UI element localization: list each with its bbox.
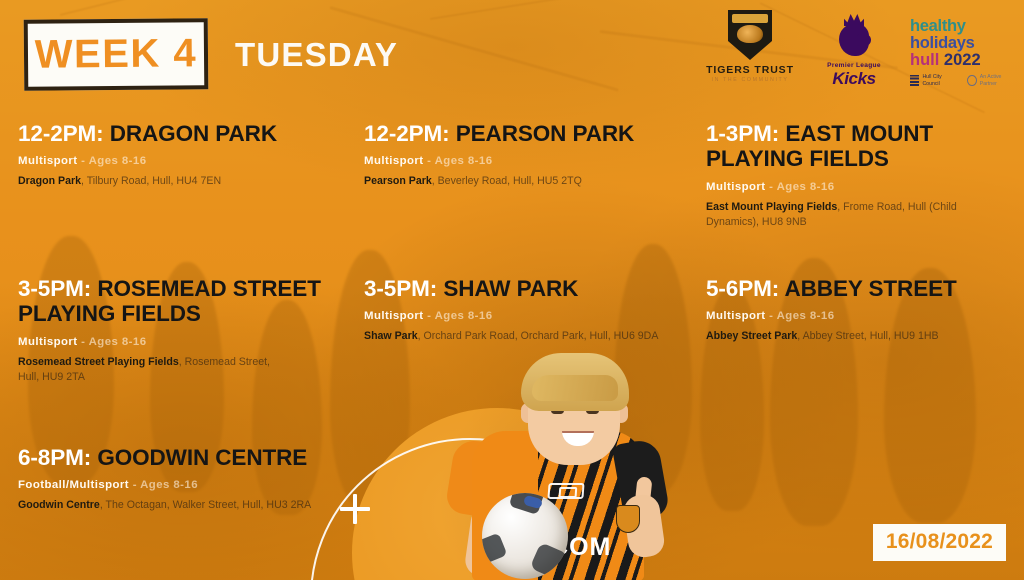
session-meta: Multisport - Ages 8-16 [18, 155, 348, 167]
session-address: Dragon Park, Tilbury Road, Hull, HU4 7EN [18, 174, 318, 189]
hull-city-crest-icon [728, 10, 772, 60]
session-meta: Multisport - Ages 8-16 [706, 310, 1006, 322]
session-title: 12-2PM: DRAGON PARK [18, 121, 348, 146]
session-address-name: Goodwin Centre [18, 499, 100, 511]
session-venue: ABBEY STREET [785, 276, 957, 301]
session-activity: Multisport [18, 155, 78, 167]
poster-canvas: GIACOM WEEK 4 TUESDAY TIGERS TRUST IN TH… [0, 0, 1024, 580]
hull-city-council-logo: Hull City Council [910, 74, 955, 87]
tigers-trust-title: TIGERS TRUST [702, 64, 798, 76]
active-partner-logo: An Active Partner [967, 74, 1014, 87]
session-card: 5-6PM: ABBEY STREET Multisport - Ages 8-… [706, 276, 1006, 344]
session-card: 3-5PM: ROSEMEAD STREET PLAYING FIELDS Mu… [18, 276, 338, 385]
hh-year-text: 2022 [944, 51, 981, 69]
session-time: 12-2PM: [364, 121, 450, 146]
tiger-head-icon [737, 25, 763, 43]
session-address: Abbey Street Park, Abbey Street, Hull, H… [706, 329, 1006, 344]
session-address: Pearson Park, Beverley Road, Hull, HU5 2… [364, 174, 664, 189]
session-card: 12-2PM: PEARSON PARK Multisport - Ages 8… [364, 121, 694, 189]
date-badge: 16/08/2022 [873, 524, 1006, 561]
session-ages: - Ages 8-16 [427, 155, 492, 167]
session-time: 3-5PM: [364, 276, 437, 301]
session-address-rest: , Tilbury Road, Hull, HU4 7EN [81, 175, 221, 187]
session-title: 5-6PM: ABBEY STREET [706, 276, 1006, 301]
tigers-trust-logo: TIGERS TRUST IN THE COMMUNITY [702, 8, 798, 83]
hh-partner-logos: Hull City Council An Active Partner [910, 74, 1014, 87]
session-address: Shaw Park, Orchard Park Road, Orchard Pa… [364, 329, 664, 344]
session-title: 12-2PM: PEARSON PARK [364, 121, 694, 146]
kicks-text: Kicks [816, 69, 892, 89]
session-title: 3-5PM: SHAW PARK [364, 276, 694, 301]
session-activity: Multisport [364, 155, 424, 167]
session-venue: SHAW PARK [443, 276, 578, 301]
session-address-name: Rosemead Street Playing Fields [18, 356, 179, 368]
week-label: WEEK 4 [35, 31, 198, 77]
session-ages: - Ages 8-16 [81, 155, 146, 167]
session-venue: PEARSON PARK [456, 121, 634, 146]
session-activity: Multisport [364, 310, 424, 322]
day-label: TUESDAY [235, 36, 398, 74]
session-meta: Football/Multisport - Ages 8-16 [18, 479, 348, 491]
hh-hull-text: hull [910, 51, 939, 69]
session-ages: - Ages 8-16 [133, 479, 198, 491]
session-time: 5-6PM: [706, 276, 779, 301]
session-card: 1-3PM: EAST MOUNT PLAYING FIELDS Multisp… [706, 121, 1006, 230]
week-badge: WEEK 4 [24, 18, 209, 91]
session-ages: - Ages 8-16 [769, 181, 834, 193]
hh-line-3: hull 2022 [910, 52, 1014, 69]
session-ages: - Ages 8-16 [81, 336, 146, 348]
session-time: 3-5PM: [18, 276, 91, 301]
session-time: 6-8PM: [18, 445, 91, 470]
date-text: 16/08/2022 [886, 530, 993, 553]
session-meta: Multisport - Ages 8-16 [18, 336, 338, 348]
council-mark-icon [910, 75, 919, 86]
session-time: 1-3PM: [706, 121, 779, 146]
session-activity: Football/Multisport [18, 479, 129, 491]
session-address-name: Pearson Park [364, 175, 432, 187]
session-address-rest: , The Octagan, Walker Street, Hull, HU3 … [100, 499, 311, 511]
session-venue: GOODWIN CENTRE [97, 445, 307, 470]
session-ages: - Ages 8-16 [427, 310, 492, 322]
session-address-rest: , Orchard Park Road, Orchard Park, Hull,… [418, 330, 659, 342]
premier-league-kicks-logo: Premier League Kicks [816, 8, 892, 89]
session-address-name: Shaw Park [364, 330, 418, 342]
council-label: Hull City Council [922, 74, 955, 87]
session-address: Goodwin Centre, The Octagan, Walker Stre… [18, 498, 338, 513]
session-address: East Mount Playing Fields, Frome Road, H… [706, 200, 1006, 230]
hh-line-1: healthy [910, 18, 1014, 35]
session-ages: - Ages 8-16 [769, 310, 834, 322]
session-activity: Multisport [706, 181, 766, 193]
session-venue: DRAGON PARK [110, 121, 277, 146]
session-meta: Multisport - Ages 8-16 [706, 181, 1006, 193]
session-address-rest: , Beverley Road, Hull, HU5 2TQ [432, 175, 582, 187]
session-address-name: Dragon Park [18, 175, 81, 187]
session-activity: Multisport [706, 310, 766, 322]
hh-line-2: holidays [910, 35, 1014, 52]
session-card: 3-5PM: SHAW PARK Multisport - Ages 8-16 … [364, 276, 694, 344]
healthy-holidays-hull-logo: healthy holidays hull 2022 Hull City Cou… [910, 8, 1014, 87]
session-title: 6-8PM: GOODWIN CENTRE [18, 445, 348, 470]
poster-header: WEEK 4 TUESDAY TIGERS TRUST IN THE COMMU… [0, 0, 1024, 105]
session-address-name: Abbey Street Park [706, 330, 797, 342]
session-card: 6-8PM: GOODWIN CENTRE Football/Multispor… [18, 445, 348, 513]
session-title: 3-5PM: ROSEMEAD STREET PLAYING FIELDS [18, 276, 338, 327]
session-title: 1-3PM: EAST MOUNT PLAYING FIELDS [706, 121, 1006, 172]
tigers-trust-subtitle: IN THE COMMUNITY [702, 77, 798, 83]
premier-league-text: Premier League [816, 62, 892, 69]
session-grid: 12-2PM: DRAGON PARK Multisport - Ages 8-… [0, 108, 1024, 528]
session-time: 12-2PM: [18, 121, 104, 146]
active-partner-icon [967, 75, 977, 86]
session-meta: Multisport - Ages 8-16 [364, 155, 694, 167]
logo-row: TIGERS TRUST IN THE COMMUNITY Premier Le… [702, 8, 1014, 96]
session-activity: Multisport [18, 336, 78, 348]
active-partner-label: An Active Partner [980, 74, 1014, 87]
session-card: 12-2PM: DRAGON PARK Multisport - Ages 8-… [18, 121, 348, 189]
premier-league-lion-icon [837, 14, 871, 60]
session-meta: Multisport - Ages 8-16 [364, 310, 694, 322]
session-address: Rosemead Street Playing Fields, Rosemead… [18, 355, 288, 385]
session-address-rest: , Abbey Street, Hull, HU9 1HB [797, 330, 938, 342]
session-address-name: East Mount Playing Fields [706, 201, 837, 213]
